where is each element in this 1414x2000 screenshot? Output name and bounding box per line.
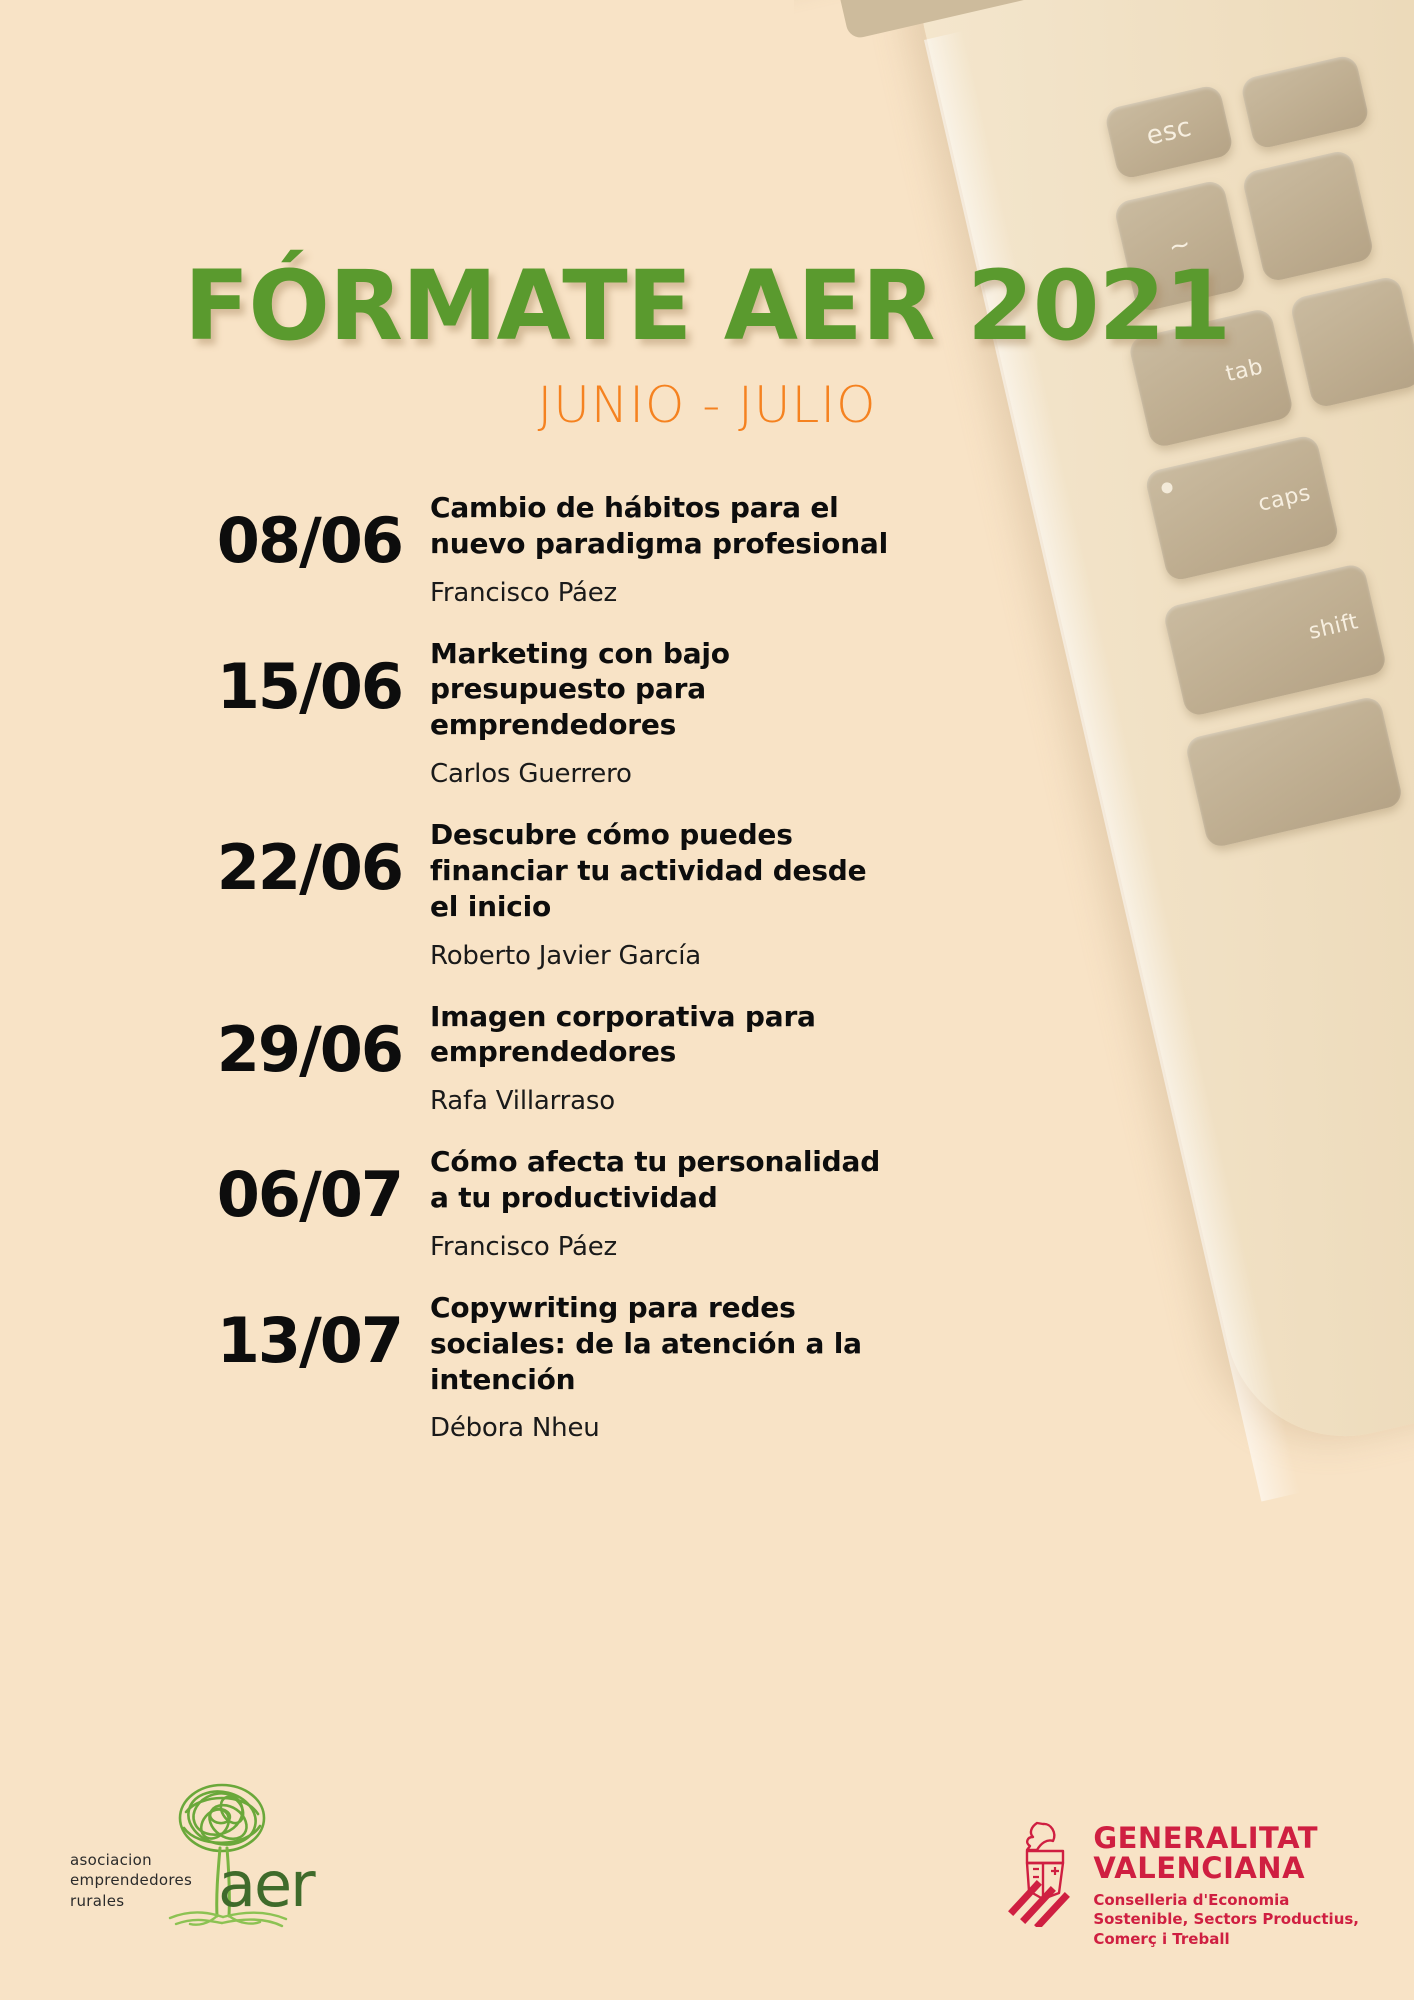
list-item: 13/07 Copywriting para redes sociales: d… [150, 1284, 970, 1443]
event-info: Descubre cómo puedes financiar tu activi… [430, 811, 970, 970]
generalitat-dept: Conselleria d'Economia Sostenible, Secto… [1093, 1891, 1359, 1950]
list-item: 15/06 Marketing con bajo presupuesto par… [150, 630, 970, 789]
event-title: Cambio de hábitos para el nuevo paradigm… [430, 490, 890, 562]
event-speaker: Francisco Páez [430, 578, 970, 608]
event-date: 29/06 [150, 993, 430, 1081]
event-title: Cómo afecta tu personalidad a tu product… [430, 1144, 890, 1216]
generalitat-name-line-2: VALENCIANA [1093, 1853, 1359, 1883]
list-item: 22/06 Descubre cómo puedes financiar tu … [150, 811, 970, 970]
event-title: Copywriting para redes sociales: de la a… [430, 1290, 890, 1397]
footer: asociacion emprendedores rurales aer [0, 1750, 1414, 2000]
list-item: 06/07 Cómo afecta tu personalidad a tu p… [150, 1138, 970, 1262]
event-speaker: Rafa Villarraso [430, 1086, 970, 1116]
event-speaker: Débora Nheu [430, 1413, 970, 1443]
event-info: Imagen corporativa para emprendedores Ra… [430, 993, 970, 1117]
generalitat-valenciana-logo: GENERALITAT VALENCIANA Conselleria d'Eco… [1007, 1819, 1359, 1950]
event-info: Marketing con bajo presupuesto para empr… [430, 630, 970, 789]
list-item: 29/06 Imagen corporativa para emprendedo… [150, 993, 970, 1117]
aer-tagline-line-3: rurales [70, 1891, 192, 1911]
aer-wordmark: aer [218, 1848, 314, 1921]
event-info: Cambio de hábitos para el nuevo paradigm… [430, 484, 970, 608]
event-title: Descubre cómo puedes financiar tu activi… [430, 817, 890, 924]
event-date: 15/06 [150, 630, 430, 718]
event-title: Marketing con bajo presupuesto para empr… [430, 636, 890, 743]
schedule-list: 08/06 Cambio de hábitos para el nuevo pa… [150, 484, 970, 1465]
generalitat-name-line-1: GENERALITAT [1093, 1823, 1359, 1853]
aer-tagline-line-2: emprendedores [70, 1870, 192, 1890]
event-date: 13/07 [150, 1284, 430, 1372]
event-speaker: Roberto Javier García [430, 941, 970, 971]
page-subtitle: JUNIO - JULIO [0, 376, 1414, 434]
aer-logo: asociacion emprendedores rurales aer [70, 1780, 360, 1940]
event-info: Copywriting para redes sociales: de la a… [430, 1284, 970, 1443]
event-speaker: Francisco Páez [430, 1232, 970, 1262]
generalitat-dept-line-1: Conselleria d'Economia [1093, 1891, 1359, 1911]
generalitat-dept-line-3: Comerç i Treball [1093, 1930, 1359, 1950]
event-date: 06/07 [150, 1138, 430, 1226]
list-item: 08/06 Cambio de hábitos para el nuevo pa… [150, 484, 970, 608]
generalitat-text-block: GENERALITAT VALENCIANA Conselleria d'Eco… [1093, 1819, 1359, 1950]
aer-tagline-line-1: asociacion [70, 1850, 192, 1870]
generalitat-crest-icon [1007, 1819, 1079, 1927]
event-date: 08/06 [150, 484, 430, 572]
event-info: Cómo afecta tu personalidad a tu product… [430, 1138, 970, 1262]
event-speaker: Carlos Guerrero [430, 759, 970, 789]
event-date: 22/06 [150, 811, 430, 899]
generalitat-dept-line-2: Sostenible, Sectors Productius, [1093, 1910, 1359, 1930]
poster-content: FÓRMATE AER 2021 JUNIO - JULIO 08/06 Cam… [0, 0, 1414, 2000]
page-title: FÓRMATE AER 2021 [0, 250, 1414, 362]
aer-tagline: asociacion emprendedores rurales [70, 1850, 192, 1911]
event-title: Imagen corporativa para emprendedores [430, 999, 890, 1071]
